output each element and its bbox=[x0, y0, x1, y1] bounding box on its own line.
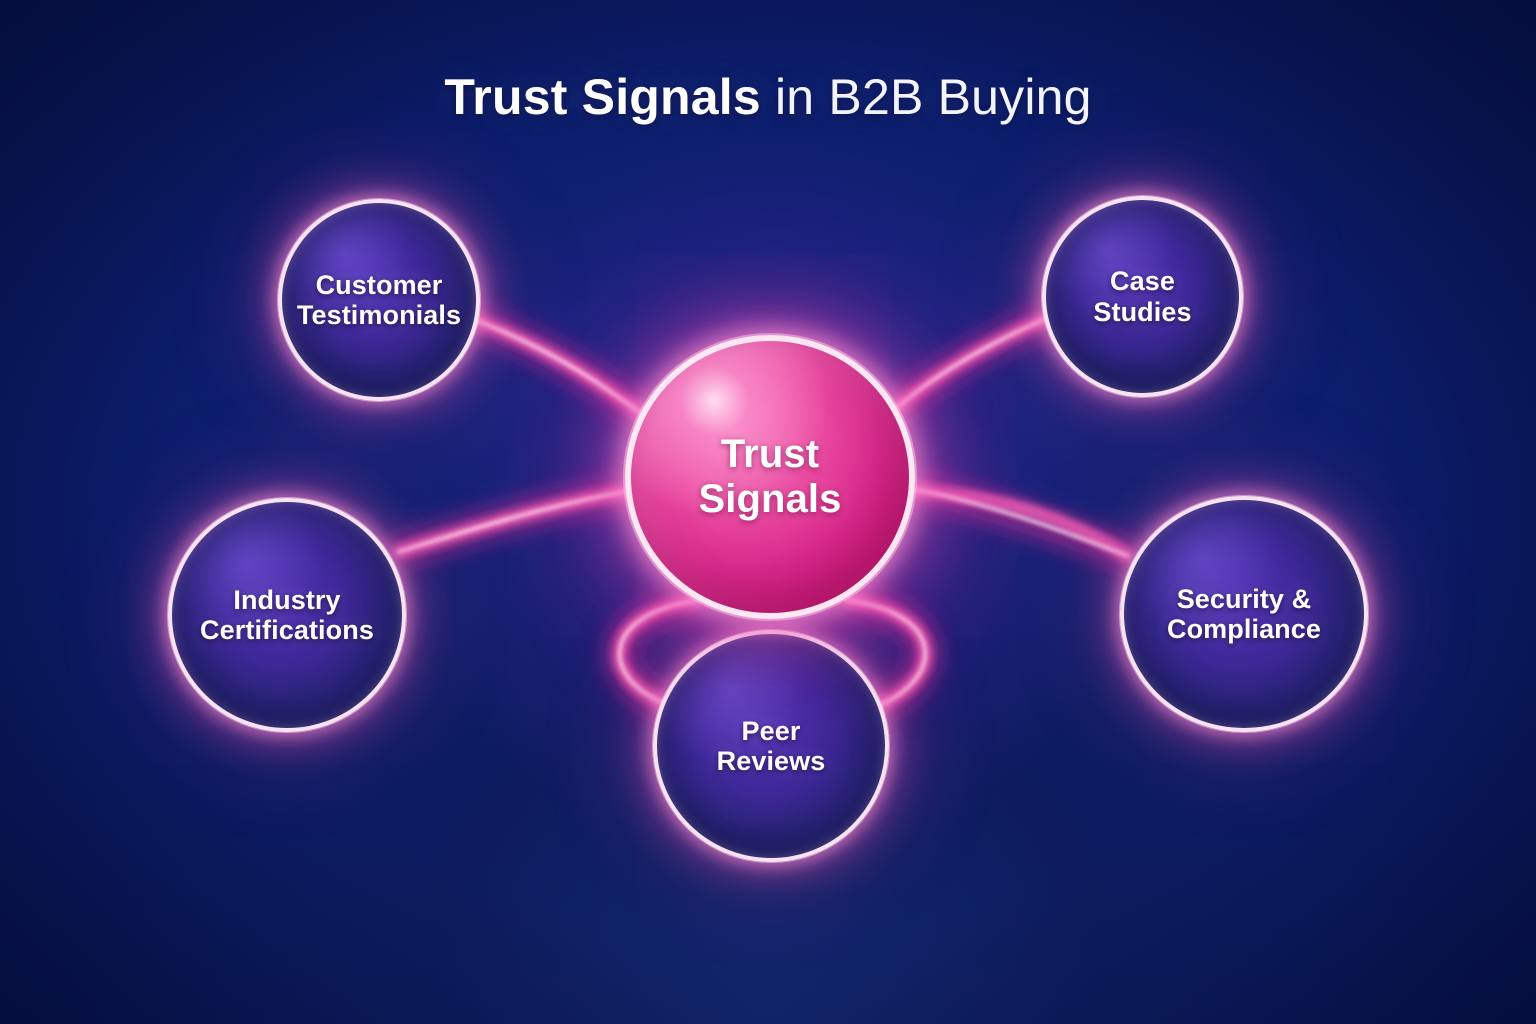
node-industry-certifications-line2: Certifications bbox=[200, 615, 374, 645]
node-security-compliance[interactable]: Security & Compliance bbox=[1120, 496, 1368, 732]
node-trust-signals-line1: Trust bbox=[721, 432, 819, 476]
node-peer-reviews[interactable]: Peer Reviews bbox=[653, 630, 889, 862]
page-title-strong: Trust Signals bbox=[444, 69, 761, 125]
node-industry-certifications-line1: Industry bbox=[233, 585, 340, 615]
node-case-studies[interactable]: Case Studies bbox=[1042, 196, 1243, 397]
node-peer-reviews-line2: Reviews bbox=[717, 746, 826, 776]
page-title: Trust Signals in B2B Buying bbox=[0, 68, 1536, 126]
diagram-canvas: Trust Signals in B2B Buying bbox=[0, 0, 1536, 1024]
node-industry-certifications-label: Industry Certifications bbox=[194, 585, 380, 646]
node-customer-testimonials-line2: Testimonials bbox=[297, 300, 461, 330]
node-peer-reviews-label: Peer Reviews bbox=[711, 716, 832, 777]
node-customer-testimonials[interactable]: Customer Testimonials bbox=[278, 199, 480, 401]
node-customer-testimonials-label: Customer Testimonials bbox=[291, 270, 467, 331]
node-security-compliance-label: Security & Compliance bbox=[1161, 584, 1327, 645]
link-trust-case-studies bbox=[890, 316, 1052, 414]
node-trust-signals-label: Trust Signals bbox=[693, 432, 848, 522]
node-security-compliance-line2: Compliance bbox=[1167, 614, 1321, 644]
node-industry-certifications[interactable]: Industry Certifications bbox=[168, 498, 406, 732]
node-security-compliance-line1: Security & bbox=[1177, 584, 1312, 614]
link-trust-industry-certifications bbox=[398, 490, 636, 552]
node-case-studies-label: Case Studies bbox=[1087, 266, 1197, 327]
node-peer-reviews-line1: Peer bbox=[742, 716, 801, 746]
node-case-studies-line1: Case bbox=[1110, 266, 1175, 296]
node-customer-testimonials-line1: Customer bbox=[316, 270, 443, 300]
node-trust-signals-line2: Signals bbox=[699, 477, 842, 521]
page-title-light: in B2B Buying bbox=[761, 69, 1092, 125]
node-case-studies-line2: Studies bbox=[1093, 297, 1191, 327]
link-trust-customer-testimonials bbox=[470, 318, 648, 418]
link-trust-security-compliance bbox=[906, 488, 1128, 556]
node-trust-signals[interactable]: Trust Signals bbox=[625, 335, 915, 619]
